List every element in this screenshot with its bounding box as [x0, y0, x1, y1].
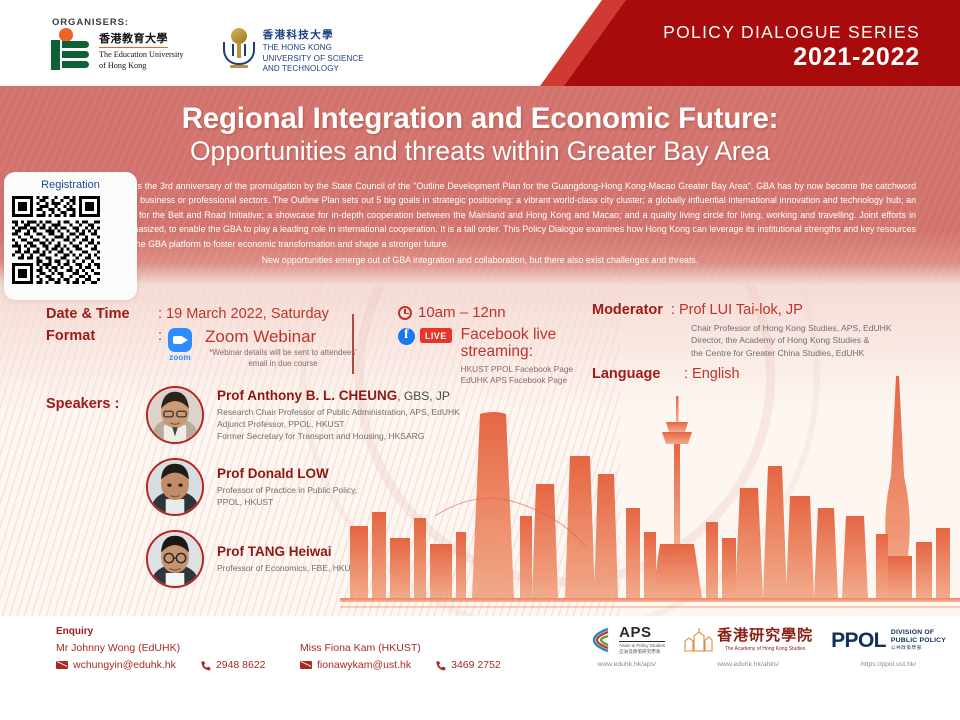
format-row: Format : zoom Zoom Webinar *Webinar deta…: [46, 328, 361, 370]
contact-name: Mr Johnny Wong (EdUHK): [56, 642, 266, 654]
zoom-logo: zoom: [163, 328, 197, 362]
registration-qr-code[interactable]: [4, 196, 108, 284]
phone-icon: [200, 660, 211, 671]
speaker-item: Prof Donald LOW Professor of Practice in…: [146, 458, 357, 516]
facebook-page-1: HKUST PPOL Facebook Page: [461, 364, 574, 376]
aps-sub-2: 亞洲及政策研究學系: [619, 649, 665, 655]
speaker-role-1: Professor of Practice in Public Policy,: [217, 484, 357, 496]
zoom-camera-icon: [168, 328, 192, 352]
registration-label: Registration: [4, 179, 137, 191]
speaker-avatar: [146, 530, 204, 588]
main-content: Date & Time : 19 March 2022, Saturday Fo…: [0, 286, 960, 616]
hkust-name-en-2: UNIVERSITY OF SCIENCE: [263, 54, 364, 65]
title-band: Regional Integration and Economic Future…: [0, 86, 960, 286]
hkust-name-cn: 香港科技大學: [263, 29, 364, 42]
speakers-label: Speakers :: [46, 396, 119, 412]
footer: Enquiry Mr Johnny Wong (EdUHK) wchungyin…: [0, 616, 960, 720]
enquiry-title: Enquiry: [56, 626, 93, 637]
date-time-label: Date & Time: [46, 306, 158, 322]
event-title-line2: Opportunities and threats within Greater…: [0, 136, 960, 167]
eduhk-logo: 香港教育大學 The Education University of Hong …: [50, 28, 184, 71]
contact-name: Miss Fiona Kam (HKUST): [300, 642, 501, 654]
hkust-name-en-1: THE HONG KONG: [263, 43, 364, 54]
language-value: English: [692, 366, 740, 382]
ahks-url[interactable]: www.eduhk.hk/ahks/: [683, 661, 813, 668]
date-time-row: Date & Time : 19 March 2022, Saturday: [46, 306, 329, 322]
series-years: 2021-2022: [793, 43, 920, 72]
zoom-wordmark: zoom: [163, 353, 197, 362]
facebook-page-2: EdUHK APS Facebook Page: [461, 375, 574, 387]
facebook-icon: [398, 328, 415, 345]
series-title: POLICY DIALOGUE SERIES: [663, 22, 920, 43]
language-row: Language : English: [592, 366, 740, 382]
ppol-url[interactable]: https://ppol.ust.hk/: [831, 661, 946, 668]
event-description-closing: New opportunities emerge out of GBA inte…: [44, 253, 916, 267]
aps-logo-icon: [588, 626, 614, 654]
date-colon: :: [158, 306, 162, 322]
moderator-role-3: the Centre for Greater China Studies, Ed…: [691, 347, 892, 359]
moderator-name: Prof LUI Tai-lok, JP: [679, 302, 803, 318]
moderator-block: Moderator : Prof LUI Tai-lok, JP Chair P…: [592, 302, 892, 359]
moderator-label: Moderator: [592, 302, 663, 318]
contact-email[interactable]: wchungyin@eduhk.hk: [73, 659, 176, 671]
facebook-title-line1: Facebook live: [461, 326, 574, 343]
ppol-name: PPOL: [831, 630, 886, 651]
speaker-suffix: , GBS, JP: [397, 389, 450, 403]
partner-ahks[interactable]: 香港研究學院 The Academy of Hong Kong Studies …: [683, 624, 813, 668]
hkust-name-en-3: AND TECHNOLOGY: [263, 64, 364, 75]
speaker-name: Prof Anthony B. L. CHEUNG: [217, 388, 397, 403]
eduhk-name-cn: 香港教育大學: [99, 33, 168, 48]
clock-icon: [398, 306, 412, 320]
ahks-name-cn: 香港研究學院: [717, 629, 813, 644]
speaker-role-2: PPOL, HKUST: [217, 496, 357, 508]
partner-aps[interactable]: APS Asian & Policy Studies 亞洲及政策研究學系 www…: [588, 624, 665, 668]
speaker-name: Prof Donald LOW: [217, 466, 329, 481]
eduhk-dot-icon: [59, 28, 73, 42]
organiser-logos: 香港教育大學 The Education University of Hong …: [50, 28, 364, 75]
mail-icon: [56, 661, 68, 670]
eduhk-name-en-1: The Education University: [99, 50, 184, 61]
language-label: Language: [592, 366, 684, 382]
header-bar: ORGANISERS: 香港教育大學 The Education Univers…: [0, 0, 960, 86]
partner-logos: APS Asian & Policy Studies 亞洲及政策研究學系 www…: [588, 624, 946, 668]
time-row: 10am – 12nn: [398, 304, 506, 321]
ahks-name-en: The Academy of Hong Kong Studies: [717, 646, 813, 652]
facebook-title-line2: streaming:: [461, 343, 574, 360]
live-badge: LIVE: [420, 328, 452, 343]
format-value: Zoom Webinar: [205, 328, 361, 345]
contact-email[interactable]: fionawykam@ust.hk: [317, 659, 411, 671]
column-divider: [352, 314, 354, 374]
speaker-role-2: Adjunct Professor, PPOL, HKUST: [217, 418, 460, 430]
contact-phone: 2948 8622: [216, 659, 266, 671]
speaker-role-3: Former Secretary for Transport and Housi…: [217, 430, 460, 442]
ppol-sub-cn: 公共政策學部: [891, 645, 946, 651]
contact-block: Miss Fiona Kam (HKUST) fionawykam@ust.hk…: [300, 642, 501, 671]
format-colon: :: [158, 328, 162, 344]
facebook-live-row: LIVE Facebook live streaming: HKUST PPOL…: [398, 326, 573, 387]
series-banner: POLICY DIALOGUE SERIES 2021-2022: [540, 0, 960, 86]
date-time-value: 19 March 2022, Saturday: [166, 306, 329, 322]
speaker-avatar: [146, 458, 204, 516]
aps-url[interactable]: www.eduhk.hk/aps/: [588, 661, 665, 668]
partner-ppol[interactable]: PPOL DIVISION OF PUBLIC POLICY 公共政策學部 ht…: [831, 624, 946, 668]
mail-icon: [300, 661, 312, 670]
speaker-avatar: [146, 386, 204, 444]
event-title-line1: Regional Integration and Economic Future…: [0, 102, 960, 136]
organisers-label: ORGANISERS:: [52, 17, 129, 28]
webinar-note: *Webinar details will be sent to attende…: [205, 348, 361, 370]
speaker-name: Prof TANG Heiwai: [217, 544, 332, 559]
ahks-logo-icon: [683, 627, 713, 653]
aps-name: APS: [619, 625, 665, 642]
contact-phone: 3469 2752: [451, 659, 501, 671]
hkust-logo-mark: [222, 28, 256, 70]
moderator-role-2: Director, the Academy of Hong Kong Studi…: [691, 334, 892, 346]
moderator-colon: :: [671, 302, 675, 318]
speaker-role-1: Professor of Economics, FBE, HKU: [217, 562, 351, 574]
eduhk-name-en-2: of Hong Kong: [99, 61, 184, 72]
format-label: Format: [46, 328, 158, 344]
speaker-item: Prof Anthony B. L. CHEUNG, GBS, JP Resea…: [146, 386, 460, 444]
time-value: 10am – 12nn: [418, 304, 506, 321]
speaker-role-1: Research Chair Professor of Public Admin…: [217, 406, 460, 418]
event-description-body: 18 February 2022 marks the 3rd anniversa…: [44, 181, 916, 249]
contact-block: Mr Johnny Wong (EdUHK) wchungyin@eduhk.h…: [56, 642, 266, 671]
speaker-item: Prof TANG Heiwai Professor of Economics,…: [146, 530, 351, 588]
ppol-sub-1: DIVISION OF: [891, 629, 946, 637]
event-description: 18 February 2022 marks the 3rd anniversa…: [44, 179, 916, 268]
registration-card[interactable]: Registration: [4, 172, 137, 300]
hkust-logo: 香港科技大學 THE HONG KONG UNIVERSITY OF SCIEN…: [222, 28, 364, 75]
language-colon: :: [684, 366, 688, 382]
eduhk-logo-mark: [50, 28, 92, 70]
moderator-role-1: Chair Professor of Hong Kong Studies, AP…: [691, 322, 892, 334]
phone-icon: [435, 660, 446, 671]
